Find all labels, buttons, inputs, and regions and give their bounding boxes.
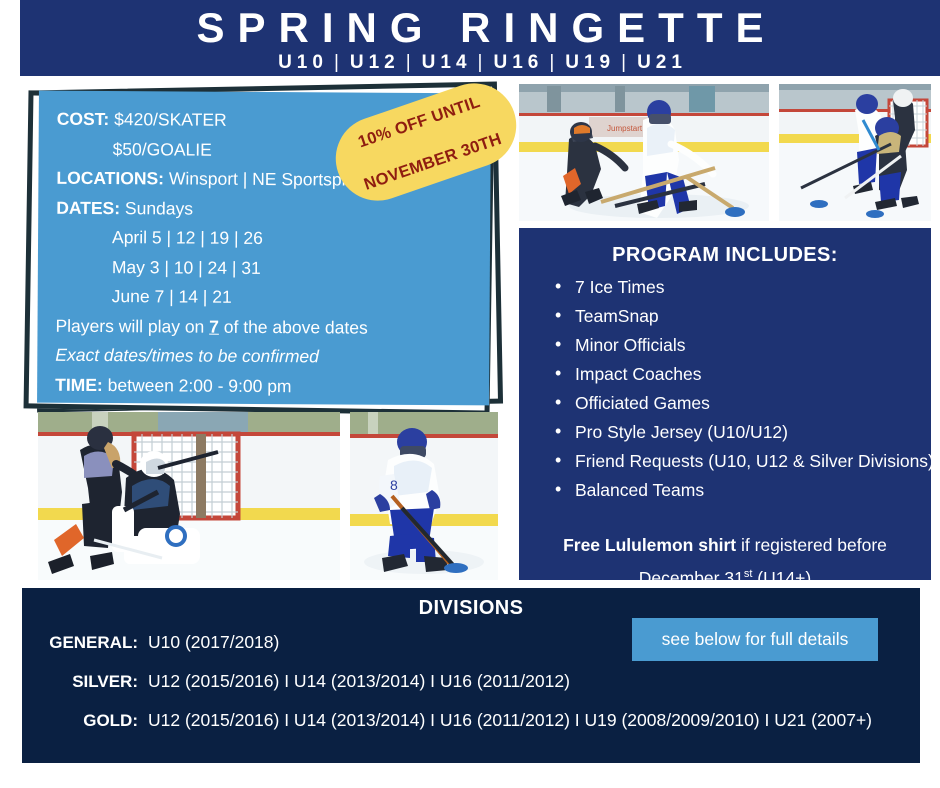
- info-line-june-dates: June 7 | 14 | 21: [56, 282, 472, 314]
- info-label-dates: DATES:: [56, 197, 120, 217]
- svg-text:8: 8: [390, 477, 398, 493]
- photo-three-players-near-net: [779, 84, 931, 221]
- footnote-date-post: (U14+): [752, 568, 811, 588]
- header-separator-2: |: [400, 52, 422, 73]
- divisions-value-general: U10 (2017/2018): [138, 632, 279, 653]
- program-item-ice-times: 7 Ice Times: [555, 273, 917, 302]
- header-division-u10: U10: [278, 52, 328, 73]
- info-value-may-dates: May 3 | 10 | 24 | 31: [112, 257, 261, 278]
- info-label-time: TIME:: [55, 374, 103, 394]
- program-item-impact-coaches: Impact Coaches: [555, 360, 917, 389]
- header-division-u21: U21: [637, 52, 687, 73]
- svg-text:Jumpstart: Jumpstart: [607, 124, 643, 133]
- divisions-label-general: GENERAL:: [22, 633, 138, 653]
- header-separator-5: |: [615, 52, 637, 73]
- info-line-time: TIME: between 2:00 - 9:00 pm: [55, 370, 471, 402]
- program-includes-panel: PROGRAM INCLUDES: 7 Ice Times TeamSnap M…: [519, 228, 931, 580]
- program-includes-title: PROGRAM INCLUDES:: [533, 240, 917, 270]
- info-value-locations: Winsport | NE Sportsplex: [169, 168, 364, 189]
- divisions-value-gold: U12 (2015/2016) I U14 (2013/2014) I U16 …: [138, 710, 872, 731]
- photo-single-skater: 8: [350, 412, 498, 580]
- info-line-dates: DATES: Sundays: [56, 193, 472, 225]
- info-label-cost: COST:: [57, 109, 110, 129]
- header-age-divisions: U10|U12|U14|U16|U19|U21: [20, 51, 940, 75]
- divisions-row-silver: SILVER: U12 (2015/2016) I U14 (2013/2014…: [22, 671, 920, 692]
- divisions-panel: DIVISIONS GENERAL: U10 (2017/2018) SILVE…: [22, 588, 920, 763]
- program-footnote: Free Lululemon shirt if registered befor…: [533, 531, 917, 593]
- program-item-teamsnap: TeamSnap: [555, 302, 917, 331]
- footnote-date-pre: December 31: [639, 568, 744, 588]
- info-value-april-dates: April 5 | 12 | 19 | 26: [112, 227, 263, 248]
- header-division-u16: U16: [493, 52, 543, 73]
- header-separator-4: |: [543, 52, 565, 73]
- players-note-post: of the above dates: [219, 316, 368, 337]
- program-item-minor-officials: Minor Officials: [555, 331, 917, 360]
- footnote-rest-text: if registered before: [736, 535, 887, 555]
- divisions-label-gold: GOLD:: [22, 711, 138, 731]
- divisions-label-silver: SILVER:: [22, 672, 138, 692]
- header-division-u12: U12: [350, 52, 400, 73]
- info-value-june-dates: June 7 | 14 | 21: [112, 286, 232, 307]
- divisions-value-silver: U12 (2015/2016) I U14 (2013/2014) I U16 …: [138, 671, 570, 692]
- program-includes-list: 7 Ice Times TeamSnap Minor Officials Imp…: [533, 273, 917, 505]
- spring-ringette-poster: SPRING RINGETTE U10|U12|U14|U16|U19|U21 …: [0, 0, 940, 788]
- info-label-locations: LOCATIONS:: [56, 168, 164, 189]
- players-note-pre: Players will play on: [55, 315, 209, 336]
- photo-goalie-save: [38, 412, 340, 580]
- header-division-u14: U14: [422, 52, 472, 73]
- divisions-row-gold: GOLD: U12 (2015/2016) I U14 (2013/2014) …: [22, 710, 920, 731]
- info-line-april-dates: April 5 | 12 | 19 | 26: [56, 223, 472, 255]
- header-division-u19: U19: [565, 52, 615, 73]
- info-value-time: between 2:00 - 9:00 pm: [108, 375, 292, 396]
- header-banner: SPRING RINGETTE U10|U12|U14|U16|U19|U21: [20, 0, 940, 76]
- program-item-pro-style-jersey: Pro Style Jersey (U10/U12): [555, 418, 917, 447]
- info-line-players-note: Players will play on 7 of the above date…: [55, 311, 471, 343]
- info-value-dates: Sundays: [125, 198, 193, 218]
- info-value-cost-goalie: $50/GOALIE: [113, 139, 212, 160]
- header-separator-3: |: [472, 52, 494, 73]
- photo-two-players-chasing-ring: Jumpstart: [519, 84, 769, 221]
- program-item-balanced-teams: Balanced Teams: [555, 476, 917, 505]
- info-value-cost-skater: $420/SKATER: [114, 109, 227, 130]
- divisions-title: DIVISIONS: [22, 588, 920, 622]
- footnote-bold-text: Free Lululemon shirt: [563, 535, 736, 555]
- info-line-confirm-note: Exact dates/times to be confirmed: [55, 341, 471, 373]
- page-title: SPRING RINGETTE: [20, 5, 940, 51]
- program-item-officiated-games: Officiated Games: [555, 389, 917, 418]
- info-line-may-dates: May 3 | 10 | 24 | 31: [56, 252, 472, 284]
- see-below-for-full-details-button[interactable]: see below for full details: [632, 618, 878, 661]
- header-separator-1: |: [328, 52, 350, 73]
- program-item-friend-requests: Friend Requests (U10, U12 & Silver Divis…: [555, 447, 917, 476]
